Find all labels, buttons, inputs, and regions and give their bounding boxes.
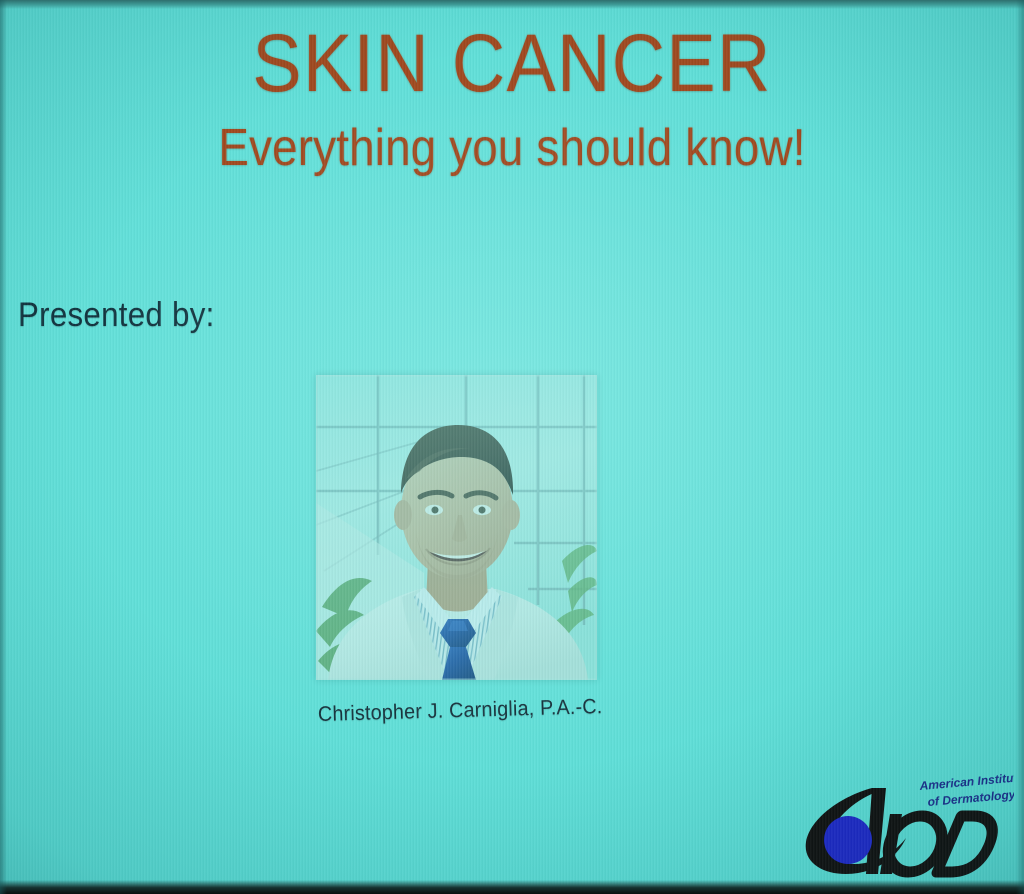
presenter-photo-frame — [316, 375, 597, 680]
logo-blue-dot-icon — [824, 816, 872, 864]
presenter-name-caption: Christopher J. Carniglia, P.A.-C. — [318, 695, 591, 727]
presenter-portrait-photo — [316, 375, 597, 680]
presented-by-label: Presented by: — [18, 296, 215, 335]
screen-edge-right — [1016, 0, 1024, 894]
page-title: SKIN CANCER — [51, 22, 973, 106]
screen-edge-bottom — [0, 880, 1024, 894]
presentation-slide: SKIN CANCER Everything you should know! … — [0, 0, 1024, 894]
screen-edge-top — [0, 0, 1024, 9]
slide-subtitle: Everything you should know! — [61, 118, 962, 178]
aiod-logo: American Institute of Dermatology — [802, 774, 1014, 882]
title-block: SKIN CANCER Everything you should know! — [0, 22, 1024, 178]
screen-edge-left — [0, 0, 7, 894]
